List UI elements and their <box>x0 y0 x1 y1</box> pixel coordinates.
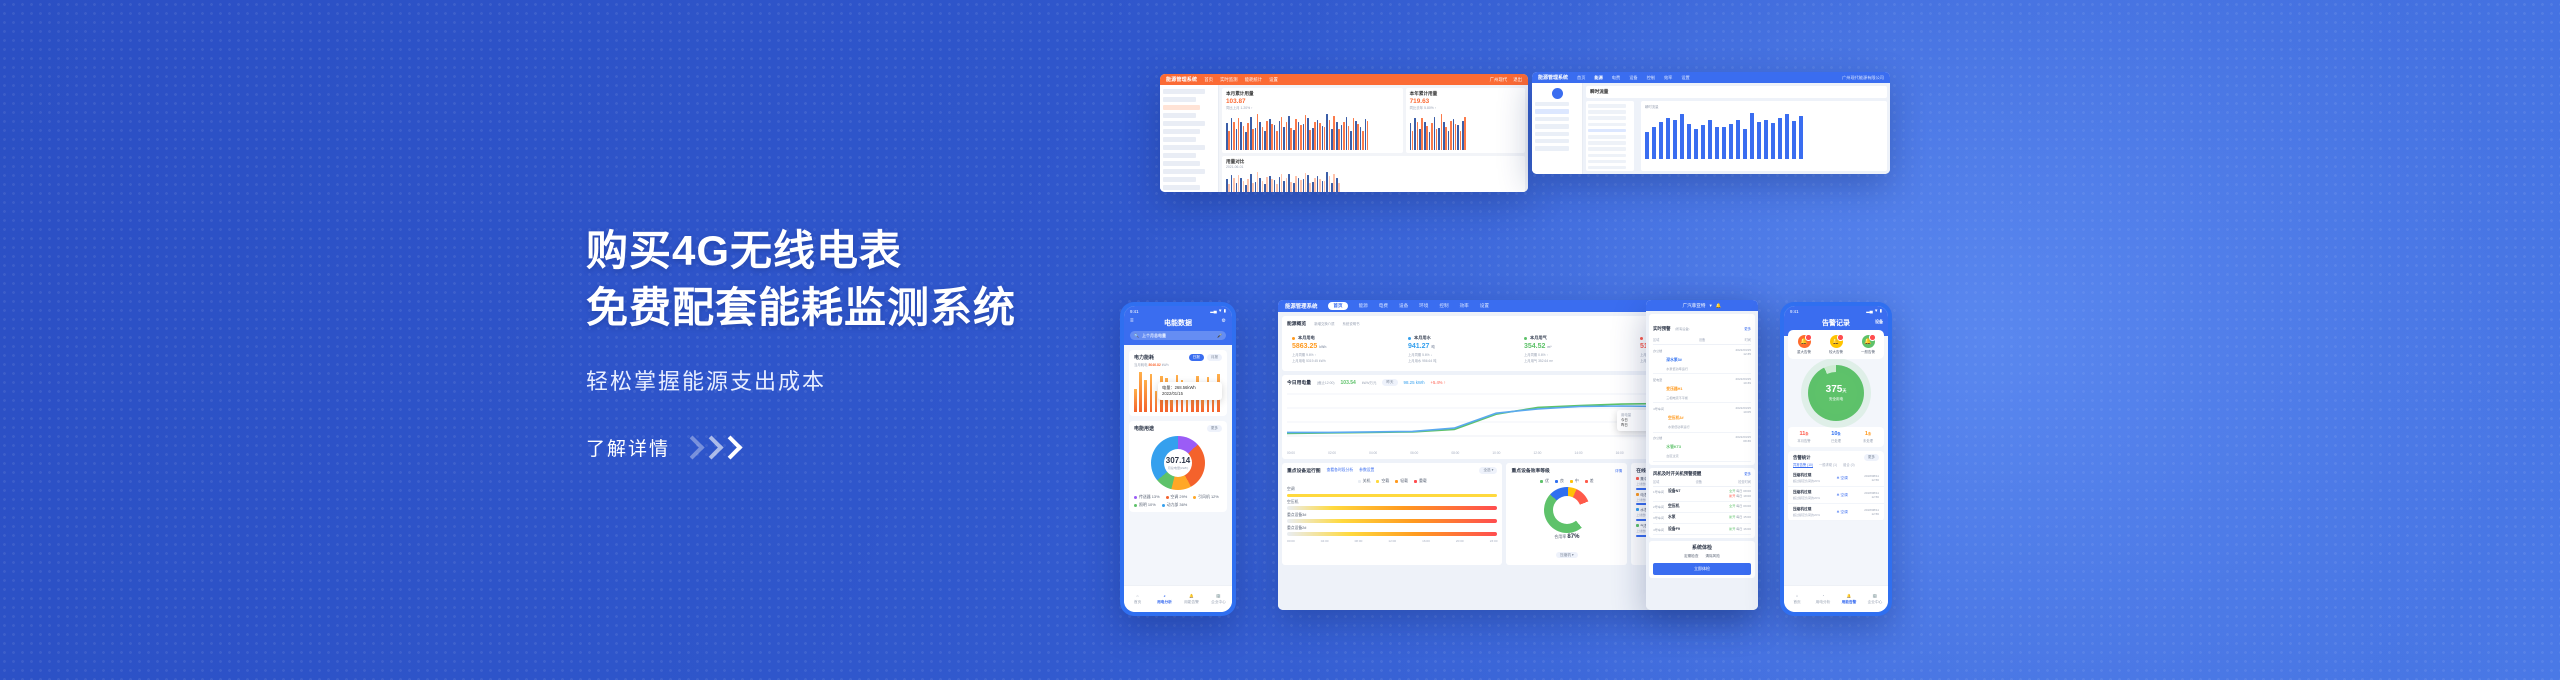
tab-daily[interactable]: 日报 <box>1189 354 1204 361</box>
ems-menu-0[interactable]: 首页 <box>1577 75 1585 81</box>
alert-badge-label: 较大告警 <box>1829 350 1843 355</box>
realtime-alert-card: 实时预警 (所有设备) 更多 区域 设备 时间 办公楼深水泵3#水泵低功率运行2… <box>1649 314 1755 465</box>
screenshot-phone-power[interactable]: 9:41 ▂▄ ▼ ▮ ≡ 电能数据 ⚙ 🔍 上个月总电量 🎤 电力能耗 日报 <box>1120 302 1236 616</box>
chevron-down-icon[interactable]: ▾ <box>1709 303 1711 309</box>
bell-icon: 🔔 <box>1830 335 1843 348</box>
overview-menu-6[interactable]: 效率 <box>1460 303 1469 309</box>
erp-logout[interactable]: 退出 <box>1513 77 1522 83</box>
today-delta: +5.4% ↑ <box>1431 380 1446 385</box>
kpi-last: 上月用气 352.64 m³ <box>1524 358 1626 363</box>
legend-item: 传送器 13% <box>1134 494 1160 500</box>
equip-row-label: 空压机 <box>1287 500 1497 505</box>
menu-icon[interactable]: ≡ <box>1130 318 1134 324</box>
power-card-title: 电力能耗 <box>1134 354 1154 361</box>
x-tick: 08:00 <box>1355 539 1363 543</box>
overview-link-1[interactable]: 系统说明书 <box>1343 321 1360 326</box>
tab-enterprise[interactable]: 🏢企业中心 <box>1862 586 1888 612</box>
ems-menu-2[interactable]: 电费 <box>1612 75 1620 81</box>
bar <box>1150 374 1153 412</box>
power-card-sub: 当月耗电 <box>1134 363 1148 367</box>
erp-card-year-title: 本年累计用量 <box>1410 91 1521 97</box>
pie-icon: ◔ <box>1822 594 1824 598</box>
overview-menu-0[interactable]: 首页 <box>1328 302 1347 310</box>
phone-title: 电能数据 <box>1164 320 1192 327</box>
alert-row[interactable]: 4号车间空压机3#水泵低功率运行2021/03/1510:05 <box>1653 403 1751 432</box>
bar-group <box>1410 123 1414 150</box>
tooltip-row-1-name: 昨日 <box>1621 423 1628 428</box>
tab-monthly[interactable]: 月报 <box>1207 354 1222 361</box>
ems-menu-1[interactable]: 能源 <box>1594 75 1602 81</box>
kpi-yoy: 上月同期 9.6% ↑ <box>1292 352 1394 357</box>
alert-badge[interactable]: 🔔较大告警 <box>1829 335 1843 355</box>
overview-menu-1[interactable]: 能源 <box>1359 303 1368 309</box>
phone2-title: 告警记录 <box>1822 320 1850 327</box>
fan-area: 3号车间 <box>1653 515 1664 520</box>
screenshot-phone-alert[interactable]: 9:41 ▂▄ ▼ ▮ 告警记录 设备 🔔重大告警🔔较大告警🔔一般告警 375天… <box>1780 302 1892 616</box>
legend-item: 空调 29% <box>1166 494 1188 500</box>
efficiency-gauge <box>1544 487 1590 533</box>
erp-topbar: 能源管理系统 首页 实时监测 能耗统计 设置 广州现代 退出 <box>1160 74 1528 85</box>
alert-tab-1[interactable]: 一般求助 (1) <box>1819 462 1837 468</box>
equip-row-bar <box>1287 519 1497 522</box>
alert-list-item[interactable]: 压缩机过载超过额定负荷的20%❄ 空调2018/08/1112:56 <box>1788 470 1884 487</box>
x-tick: 04:00 <box>1369 451 1377 455</box>
bar-group <box>1312 178 1316 193</box>
bar-group <box>1236 175 1240 192</box>
erp-card-month-sub: 同比上月 1.20% ↑ <box>1226 105 1399 110</box>
bar-group <box>1462 117 1466 150</box>
tab-alarm-label: 用能告警 <box>1842 600 1857 605</box>
bar-group <box>1264 121 1268 150</box>
bar-group <box>1453 119 1457 150</box>
bar-group <box>1312 122 1316 151</box>
usage-more-button[interactable]: 更多 <box>1207 425 1222 432</box>
bar-group <box>1245 123 1249 150</box>
bar-group <box>1350 118 1354 150</box>
bar-group <box>1269 176 1273 192</box>
bar-group <box>1448 121 1452 150</box>
health-item-0: 定期检查 <box>1684 554 1698 559</box>
phone-status-bar: 9:41 ▂▄ ▼ ▮ <box>1124 306 1232 316</box>
kpi-name: 本月用水 <box>1408 335 1510 341</box>
home-icon: ⌂ <box>1796 594 1798 598</box>
bar-group <box>1326 172 1330 192</box>
fan-device: 水泵 <box>1664 515 1729 520</box>
kpi-card-2: 本月用气354.52 m³上月同期 0.6% ↑上月用气 352.64 m³ <box>1519 331 1631 367</box>
bar-group <box>1414 118 1418 150</box>
equip-row: 空调 <box>1287 487 1497 497</box>
kpi-card-1: 本月用水941.27 吨上月同期 5.6% ↓上月用水 956.64 吨 <box>1403 331 1515 367</box>
ems-menu-5[interactable]: 效率 <box>1664 75 1672 81</box>
today-value: 103.54 <box>1341 380 1356 386</box>
kpi-value: 5863.25 kWh <box>1292 343 1394 350</box>
alert-more-button[interactable]: 更多 <box>1744 326 1751 331</box>
bar-group <box>1419 118 1423 150</box>
overview-menu-7[interactable]: 设置 <box>1480 303 1489 309</box>
bar <box>1764 120 1768 159</box>
bar-group <box>1298 178 1302 193</box>
fan-time: 新开 每日 15:00 <box>1729 515 1751 520</box>
safe-days-value: 375天 <box>1826 385 1847 395</box>
alert-desc: 水泵低功率运行 <box>1668 424 1736 429</box>
bar-group <box>1283 178 1287 192</box>
x-tick: 06:00 <box>1410 451 1418 455</box>
eff-legend: 优良中差 <box>1511 478 1622 484</box>
alert-stat-value: 10条 <box>1820 431 1852 437</box>
alert-stat: 11条本月告警 <box>1788 427 1820 447</box>
legend-item: 轻载 <box>1395 478 1408 484</box>
bar-group <box>1236 118 1240 150</box>
equip-row-label: 重点设备2# <box>1287 526 1497 531</box>
start-health-check-button[interactable]: 立即体检 <box>1653 563 1751 575</box>
bell-icon[interactable]: 🔔 <box>1716 303 1722 309</box>
fan-col-1: 设备 <box>1696 479 1702 484</box>
x-tick: 02:00 <box>1328 451 1336 455</box>
bar-group <box>1240 178 1244 193</box>
legend-item: 中 <box>1570 478 1579 484</box>
alert-stats: 11条本月告警10条已处理1条未处理 <box>1788 427 1884 447</box>
bar-group <box>1322 126 1326 150</box>
alert-desc: 台区过流 <box>1666 453 1735 458</box>
item-time: 2018/08/1112:56 <box>1864 508 1879 517</box>
legend-item: 动力部 36% <box>1162 502 1188 508</box>
legend-item: 差 <box>1585 478 1594 484</box>
fan-row[interactable]: 2号车间空压机全开 每日 09:00 <box>1653 502 1751 513</box>
equip-link-0[interactable]: 查看各时段分析 <box>1327 468 1354 473</box>
item-name: 压缩机过载 <box>1793 473 1820 478</box>
alert-device: 空压机3# <box>1668 416 1684 420</box>
eff-select[interactable]: 压缩机 ▾ <box>1556 552 1578 558</box>
alert-list-item[interactable]: 压缩机过载超过额定负荷的20%❄ 空调2018/08/1112:56 <box>1788 487 1884 504</box>
bar-group <box>1326 114 1330 150</box>
equip-row-bar <box>1287 506 1497 509</box>
x-tick: 20:00 <box>1456 539 1464 543</box>
kpi-value: 941.27 吨 <box>1408 343 1510 350</box>
bar <box>1694 129 1698 159</box>
bar <box>1687 124 1691 159</box>
equip-row: 重点设备3# <box>1287 513 1497 523</box>
today-note: (截止12:00) <box>1317 380 1335 385</box>
ems-logo: 能源管理系统 <box>1538 74 1568 81</box>
x-tick: 23:00 <box>1490 539 1498 543</box>
alert-stat-label: 本月告警 <box>1788 438 1820 443</box>
fan-time: 全开 每日 09:00 <box>1729 504 1751 509</box>
legend-item: 引风机 12% <box>1193 494 1219 500</box>
bar-group <box>1250 117 1254 150</box>
alert-badge[interactable]: 🔔一般告警 <box>1861 335 1875 355</box>
power-card-value: 8046.82 <box>1149 363 1161 367</box>
tab-power-analysis[interactable]: ◔用电分析 <box>1810 586 1836 612</box>
eff-title: 重点设备效率等级 <box>1511 467 1549 474</box>
alert-row[interactable]: 配电室变压器H1三相电流不平衡2021/03/1510:39 <box>1653 374 1751 403</box>
alert-stat: 1条未处理 <box>1852 427 1884 447</box>
bar-group <box>1279 117 1283 150</box>
fan-area: 1号车间 <box>1653 489 1664 498</box>
x-tick: 00:00 <box>1287 539 1295 543</box>
bell-icon: 🔔 <box>1847 594 1852 598</box>
overview-link-0[interactable]: 新增交换介质 <box>1314 321 1334 326</box>
bar-group <box>1293 119 1297 150</box>
efficiency-section: 重点设备效率等级 详情 优良中差 合用率 87% 压缩机 ▾ <box>1506 463 1627 565</box>
fan-time: 新开 每日 16:00 <box>1729 527 1751 532</box>
alert-device: 深水泵3# <box>1666 358 1682 362</box>
fan-row[interactable]: 3号车间水泵新开 每日 15:00 <box>1653 513 1751 524</box>
bar <box>1736 120 1740 159</box>
bar <box>1778 118 1782 159</box>
status-icons: ▂▄ ▼ ▮ <box>1866 308 1882 314</box>
alert-desc: 水泵低功率运行 <box>1666 366 1735 371</box>
bar-group <box>1283 122 1287 150</box>
bar-group <box>1264 177 1268 192</box>
status-time: 9:41 <box>1130 309 1139 314</box>
item-device: ❄ 空调 <box>1837 493 1848 498</box>
equip-row-bar <box>1287 494 1497 497</box>
phone2-tabbar[interactable]: ⌂首页 ◔用电分析 🔔用能告警 🏢企业中心 <box>1784 585 1888 612</box>
ems-brand-icon <box>1552 88 1563 99</box>
tab-alarm[interactable]: 🔔用能告警 <box>1178 586 1205 612</box>
equip-row-label: 重点设备3# <box>1287 513 1497 518</box>
kpi-name: 本月用气 <box>1524 335 1626 341</box>
erp-card-year: 本年累计用量 719.63 同比去年 5.80% ↑ <box>1406 88 1525 153</box>
alert-topbar: 广汽菲亚特 ▾ 🔔 <box>1646 300 1758 311</box>
ems-menu-6[interactable]: 设置 <box>1681 75 1689 81</box>
erp-card-year-value: 719.63 <box>1410 98 1521 105</box>
today-range-select[interactable]: 昨天 <box>1382 379 1397 386</box>
alert-time: 2021/03/1510:39 <box>1736 377 1751 400</box>
bar <box>1666 118 1670 159</box>
power-consumption-card: 电力能耗 日报 月报 当月耗电 8046.82 kWh 电量：268.56kWh… <box>1129 350 1227 416</box>
equip-row-label: 空调 <box>1287 487 1497 492</box>
ems-sidebar[interactable] <box>1532 83 1583 174</box>
item-name: 压缩机过载 <box>1793 507 1820 512</box>
bar <box>1673 120 1677 159</box>
x-tick: 10:00 <box>1492 451 1500 455</box>
eff-value: 87% <box>1567 534 1579 540</box>
power-card-unit: kWh <box>1162 363 1169 367</box>
alert-tab-0[interactable]: 异常告警 (10) <box>1793 462 1813 468</box>
ems-chart-legend: 瞬时流量 <box>1645 104 1883 109</box>
overview-menu-4[interactable]: 环境 <box>1419 303 1428 309</box>
usage-donut-chart: 307.14 月总电量(kWh) <box>1151 436 1205 490</box>
health-item-1: 清除风险 <box>1706 554 1720 559</box>
bar-group <box>1259 178 1263 192</box>
bar-group <box>1274 180 1278 192</box>
fan-device: 设备F9 <box>1664 527 1729 532</box>
alert-col-0: 区域 <box>1653 337 1659 342</box>
tab-power-analysis[interactable]: ◕用电分析 <box>1151 586 1178 612</box>
equip-row-bar <box>1287 532 1497 535</box>
bar-group <box>1317 120 1321 150</box>
erp-card-year-sub: 同比去年 5.80% ↑ <box>1410 105 1521 110</box>
alert-company[interactable]: 广汽菲亚特 <box>1682 303 1705 309</box>
bar-group <box>1303 173 1307 192</box>
x-tick: 04:00 <box>1321 539 1329 543</box>
fan-area: 4号车间 <box>1653 527 1664 532</box>
bar-group <box>1245 179 1249 192</box>
promo-banner: 购买4G无线电表 免费配套能耗监测系统 轻松掌握能源支出成本 了解详情 能源管理… <box>0 0 2560 680</box>
kpi-value: 354.52 m³ <box>1524 343 1626 350</box>
tab-home[interactable]: ⌂首页 <box>1784 586 1810 612</box>
ems-company[interactable]: 广州现代能源有限公司 <box>1842 75 1884 81</box>
bar-group <box>1341 122 1345 150</box>
bar-group <box>1293 176 1297 192</box>
fan-time: 全开 每日 08:00新开 每日 18:00 <box>1729 489 1751 498</box>
bar-group <box>1307 175 1311 192</box>
overview-logo: 能源管理系统 <box>1285 302 1317 310</box>
ems-device-tree[interactable] <box>1586 101 1634 171</box>
gear-icon[interactable]: ⚙ <box>1222 318 1226 324</box>
legend-item: 良 <box>1555 478 1564 484</box>
bar <box>1799 116 1803 159</box>
bar <box>1680 114 1684 159</box>
fan-area: 2号车间 <box>1653 504 1664 509</box>
bar <box>1708 120 1712 159</box>
alert-badge[interactable]: 🔔重大告警 <box>1797 335 1811 355</box>
x-tick: 16:00 <box>1422 539 1430 543</box>
fan-reminder-card: 风机及时开关机预警提醒 更多 区域 设备 检查时间 1号车间设备N7全开 每日 … <box>1649 468 1755 538</box>
bar-group <box>1231 175 1235 192</box>
ems-menu-4[interactable]: 控制 <box>1647 75 1655 81</box>
bar-group <box>1346 117 1350 150</box>
equip-row: 空压机 <box>1287 500 1497 510</box>
bar <box>1659 122 1663 159</box>
bar-group <box>1303 115 1307 150</box>
alert-time: 2021/03/1512:35 <box>1736 348 1751 371</box>
alert-section-title: 实时预警 <box>1653 326 1671 331</box>
screenshot-alert-panel[interactable]: 广汽菲亚特 ▾ 🔔 实时预警 (所有设备) 更多 区域 设备 时间 办公楼深水泵 <box>1646 300 1758 610</box>
erp-user[interactable]: 广州现代 <box>1490 77 1508 83</box>
alert-row[interactable]: 办公楼深水泵3#水泵低功率运行2021/03/1512:35 <box>1653 345 1751 374</box>
phone2-action[interactable]: 设备 <box>1875 319 1883 325</box>
tab-power-analysis-label: 用电分析 <box>1816 600 1831 605</box>
bar <box>1134 389 1137 412</box>
screenshot-erp-dashboard[interactable]: 能源管理系统 首页 实时监测 能耗统计 设置 广州现代 退出 <box>1160 74 1528 192</box>
chart-tooltip: 电量：268.56kWh 2022/01/15 <box>1158 382 1222 400</box>
overview-section-title: 能源概览 <box>1287 320 1306 327</box>
search-input[interactable]: 🔍 上个月总电量 🎤 <box>1130 331 1226 340</box>
alert-col-1: 设备 <box>1699 337 1705 342</box>
bar-group <box>1438 114 1442 150</box>
status-time: 9:41 <box>1790 309 1799 314</box>
phone-tabbar[interactable]: ⌂首页 ◕用电分析 🔔用能告警 🏢企业中心 <box>1124 585 1232 612</box>
system-health-card: 系统体检 定期检查 清除风险 立即体检 <box>1649 541 1755 578</box>
overview-menu-5[interactable]: 控制 <box>1439 303 1448 309</box>
legend-item: 优 <box>1540 478 1549 484</box>
today-unit: kWh/万元 <box>1362 380 1377 385</box>
alert-area: 4号车间 <box>1653 406 1664 429</box>
kpi-yoy: 上月同期 0.6% ↑ <box>1524 352 1626 357</box>
erp-card-month-value: 103.87 <box>1226 98 1399 105</box>
tab-alarm[interactable]: 🔔用能告警 <box>1836 586 1862 612</box>
pie-icon: ◕ <box>1163 594 1165 598</box>
bar-group <box>1322 181 1326 192</box>
ems-menu-3[interactable]: 设备 <box>1629 75 1637 81</box>
bar-group <box>1255 172 1259 192</box>
erp-card-usage: 用量对比 2021-06-01 <box>1222 156 1525 192</box>
overview-menu-2[interactable]: 电费 <box>1379 303 1388 309</box>
kpi-yoy: 上月同期 5.6% ↓ <box>1408 352 1510 357</box>
alert-badge-label: 重大告警 <box>1797 350 1811 355</box>
equip-link-1[interactable]: 参数设置 <box>1359 468 1374 473</box>
kpi-card-0: 本月用电5863.25 kWh上月同期 9.6% ↑上月用电 5319.45 k… <box>1287 331 1399 367</box>
eff-link[interactable]: 详情 <box>1615 469 1622 474</box>
mic-icon[interactable]: 🎤 <box>1217 333 1222 338</box>
alert-area: 办公楼 <box>1653 435 1662 458</box>
health-title: 系统体检 <box>1653 544 1751 551</box>
fan-more-button[interactable]: 更多 <box>1744 471 1751 476</box>
x-tick: 08:00 <box>1451 451 1459 455</box>
alert-col-2: 时间 <box>1745 337 1751 342</box>
usage-total-value: 307.14 <box>1166 456 1190 465</box>
erp-sidebar[interactable] <box>1160 85 1219 192</box>
kpi-name: 本月用电 <box>1292 335 1394 341</box>
bell-icon: 🔔 <box>1189 594 1194 598</box>
alert-list-item[interactable]: 压缩机过载超过额定负荷的20%❄ 空调2018/08/1112:56 <box>1788 504 1884 521</box>
bar-group <box>1434 117 1438 150</box>
fan-device: 设备N7 <box>1664 489 1729 498</box>
usage-card-title: 电能用途 <box>1134 425 1154 432</box>
alert-desc: 三相电流不平衡 <box>1666 395 1735 400</box>
bar <box>1715 127 1719 159</box>
erp-menu-3[interactable]: 设置 <box>1269 77 1278 83</box>
alert-area: 配电室 <box>1653 377 1662 400</box>
building-icon: 🏢 <box>1216 594 1221 598</box>
bar <box>1155 391 1158 412</box>
legend-item: 重载 <box>1414 478 1427 484</box>
erp-menu-0[interactable]: 首页 <box>1204 77 1213 83</box>
x-tick: 14:00 <box>1575 451 1583 455</box>
bar <box>1771 123 1775 159</box>
fan-row[interactable]: 4号车间设备F9新开 每日 16:00 <box>1653 524 1751 535</box>
tab-enterprise[interactable]: 🏢企业中心 <box>1205 586 1232 612</box>
alert-device: 变压器H1 <box>1666 387 1682 391</box>
alert-list-more[interactable]: 更多 <box>1864 454 1879 461</box>
erp-menu-2[interactable]: 能耗统计 <box>1245 77 1263 83</box>
kpi-last: 上月用电 5319.45 kWh <box>1292 358 1394 363</box>
bar <box>1785 114 1789 159</box>
erp-card-month: 本月累计用量 103.87 同比上月 1.20% ↑ <box>1222 88 1403 153</box>
bar-group <box>1331 174 1335 192</box>
screenshot-ems-flow[interactable]: 能源管理系统 首页 能源 电费 设备 控制 效率 设置 广州现代能源有限公司 瞬… <box>1532 72 1890 174</box>
bar-group <box>1226 123 1230 150</box>
tab-enterprise-label: 企业中心 <box>1868 600 1883 605</box>
alert-badges[interactable]: 🔔重大告警🔔较大告警🔔一般告警 <box>1788 330 1884 359</box>
erp-card-usage-date[interactable]: 2021-06-01 <box>1226 165 1521 169</box>
overview-menu-3[interactable]: 设备 <box>1399 303 1408 309</box>
usage-total-label: 月总电量(kWh) <box>1168 465 1189 470</box>
alert-stat: 10条已处理 <box>1820 427 1852 447</box>
alert-row[interactable]: 办公楼水管KT3台区过流2021/03/1508:36 <box>1653 433 1751 462</box>
erp-menu-1[interactable]: 实时监测 <box>1220 77 1238 83</box>
legend-item: 照明 10% <box>1134 502 1156 508</box>
tab-home[interactable]: ⌂首页 <box>1124 586 1151 612</box>
equip-select[interactable]: 全选 ▾ <box>1479 467 1497 474</box>
bell-icon: 🔔 <box>1798 335 1811 348</box>
bar-group <box>1255 114 1259 150</box>
tab-home-label: 首页 <box>1793 600 1800 605</box>
bar-group <box>1288 116 1292 150</box>
bar-group <box>1259 122 1263 150</box>
alert-area: 办公楼 <box>1653 348 1662 371</box>
bar <box>1701 125 1705 159</box>
tab-home-label: 首页 <box>1134 600 1141 605</box>
bar <box>1139 372 1142 412</box>
bar-group <box>1298 122 1302 151</box>
phone2-status-bar: 9:41 ▂▄ ▼ ▮ <box>1784 306 1888 316</box>
alert-tab-2[interactable]: 组合 (0) <box>1843 462 1855 468</box>
megaphone-icon: 🔔 <box>1862 335 1875 348</box>
fan-row[interactable]: 1号车间设备N7全开 每日 08:00新开 每日 18:00 <box>1653 487 1751 502</box>
